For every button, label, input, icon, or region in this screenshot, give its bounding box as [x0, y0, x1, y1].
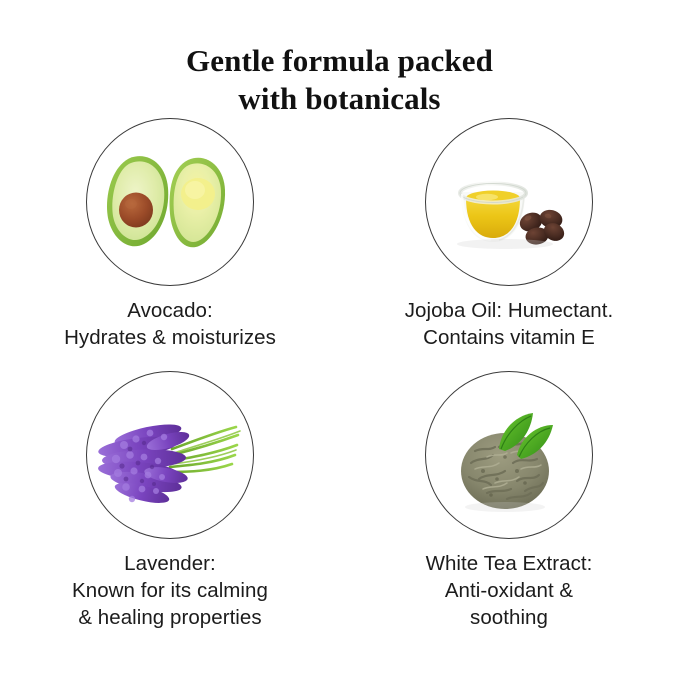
caption-line: & healing properties — [0, 604, 340, 631]
ingredient-card-jojoba-oil: Jojoba Oil: Humectant. Contains vitamin … — [339, 118, 679, 351]
jojoba-oil-circle — [425, 118, 593, 286]
caption-line: soothing — [339, 604, 679, 631]
caption-line: Lavender: — [0, 550, 340, 577]
caption-line: White Tea Extract: — [339, 550, 679, 577]
jojoba-oil-circle-ring — [425, 118, 593, 286]
white-tea-circle-ring — [425, 371, 593, 539]
lavender-circle — [86, 371, 254, 539]
caption-line: Avocado: — [0, 297, 340, 324]
avocado-circle-ring — [86, 118, 254, 286]
page-title: Gentle formula packed with botanicals — [0, 42, 679, 118]
caption-line: Hydrates & moisturizes — [0, 324, 340, 351]
white-tea-caption: White Tea Extract: Anti-oxidant & soothi… — [339, 550, 679, 631]
title-line-1: Gentle formula packed — [0, 42, 679, 80]
caption-line: Contains vitamin E — [339, 324, 679, 351]
jojoba-oil-caption: Jojoba Oil: Humectant. Contains vitamin … — [339, 297, 679, 351]
ingredient-card-lavender: Lavender: Known for its calming & healin… — [0, 371, 340, 631]
avocado-circle — [86, 118, 254, 286]
caption-line: Jojoba Oil: Humectant. — [339, 297, 679, 324]
title-line-2: with botanicals — [0, 80, 679, 118]
lavender-circle-ring — [86, 371, 254, 539]
caption-line: Known for its calming — [0, 577, 340, 604]
white-tea-circle — [425, 371, 593, 539]
avocado-caption: Avocado: Hydrates & moisturizes — [0, 297, 340, 351]
lavender-caption: Lavender: Known for its calming & healin… — [0, 550, 340, 631]
caption-line: Anti-oxidant & — [339, 577, 679, 604]
ingredient-card-white-tea-extract: White Tea Extract: Anti-oxidant & soothi… — [339, 371, 679, 631]
ingredient-card-avocado: Avocado: Hydrates & moisturizes — [0, 118, 340, 351]
ingredient-infographic: Gentle formula packed with botanicals — [0, 0, 679, 679]
